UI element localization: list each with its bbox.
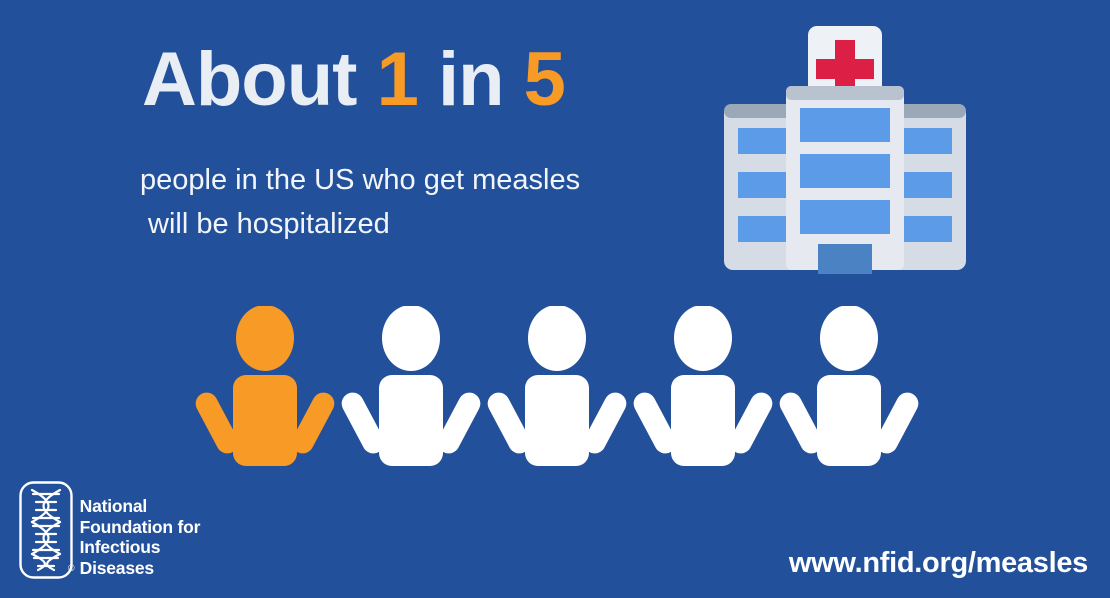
- nfid-logo[interactable]: ® National Foundation for Infectious Dis…: [18, 480, 200, 580]
- logo-text-line-2: Foundation for: [80, 517, 201, 537]
- infographic-poster: About 1 in 5 people in the US who get me…: [0, 0, 1110, 598]
- person-not-hospitalized: [630, 306, 776, 466]
- logo-text: National Foundation for Infectious Disea…: [80, 496, 201, 578]
- subtitle-line-1: people in the US who get measles: [140, 164, 580, 196]
- headline-prefix: About: [142, 37, 377, 122]
- headline-number-five: 5: [524, 37, 565, 122]
- website-url[interactable]: www.nfid.org/measles: [789, 547, 1088, 580]
- logo-text-line-3: Infectious: [80, 537, 201, 557]
- headline-number-one: 1: [377, 37, 418, 122]
- subtitle: people in the US who get measles will be…: [140, 158, 580, 246]
- dna-helix-icon: [18, 480, 74, 580]
- person-not-hospitalized: [776, 306, 922, 466]
- registered-trademark-symbol: ®: [68, 564, 75, 573]
- logo-text-line-1: National: [80, 496, 201, 516]
- logo-text-line-4: Diseases: [80, 558, 201, 578]
- person-hospitalized: [192, 306, 338, 466]
- subtitle-line-2: will be hospitalized: [140, 202, 580, 246]
- person-not-hospitalized: [338, 306, 484, 466]
- person-not-hospitalized: [484, 306, 630, 466]
- people-pictogram: [192, 306, 922, 466]
- page-title: About 1 in 5: [142, 42, 565, 118]
- hospital-building-icon: [716, 22, 974, 274]
- headline-middle: in: [418, 37, 524, 122]
